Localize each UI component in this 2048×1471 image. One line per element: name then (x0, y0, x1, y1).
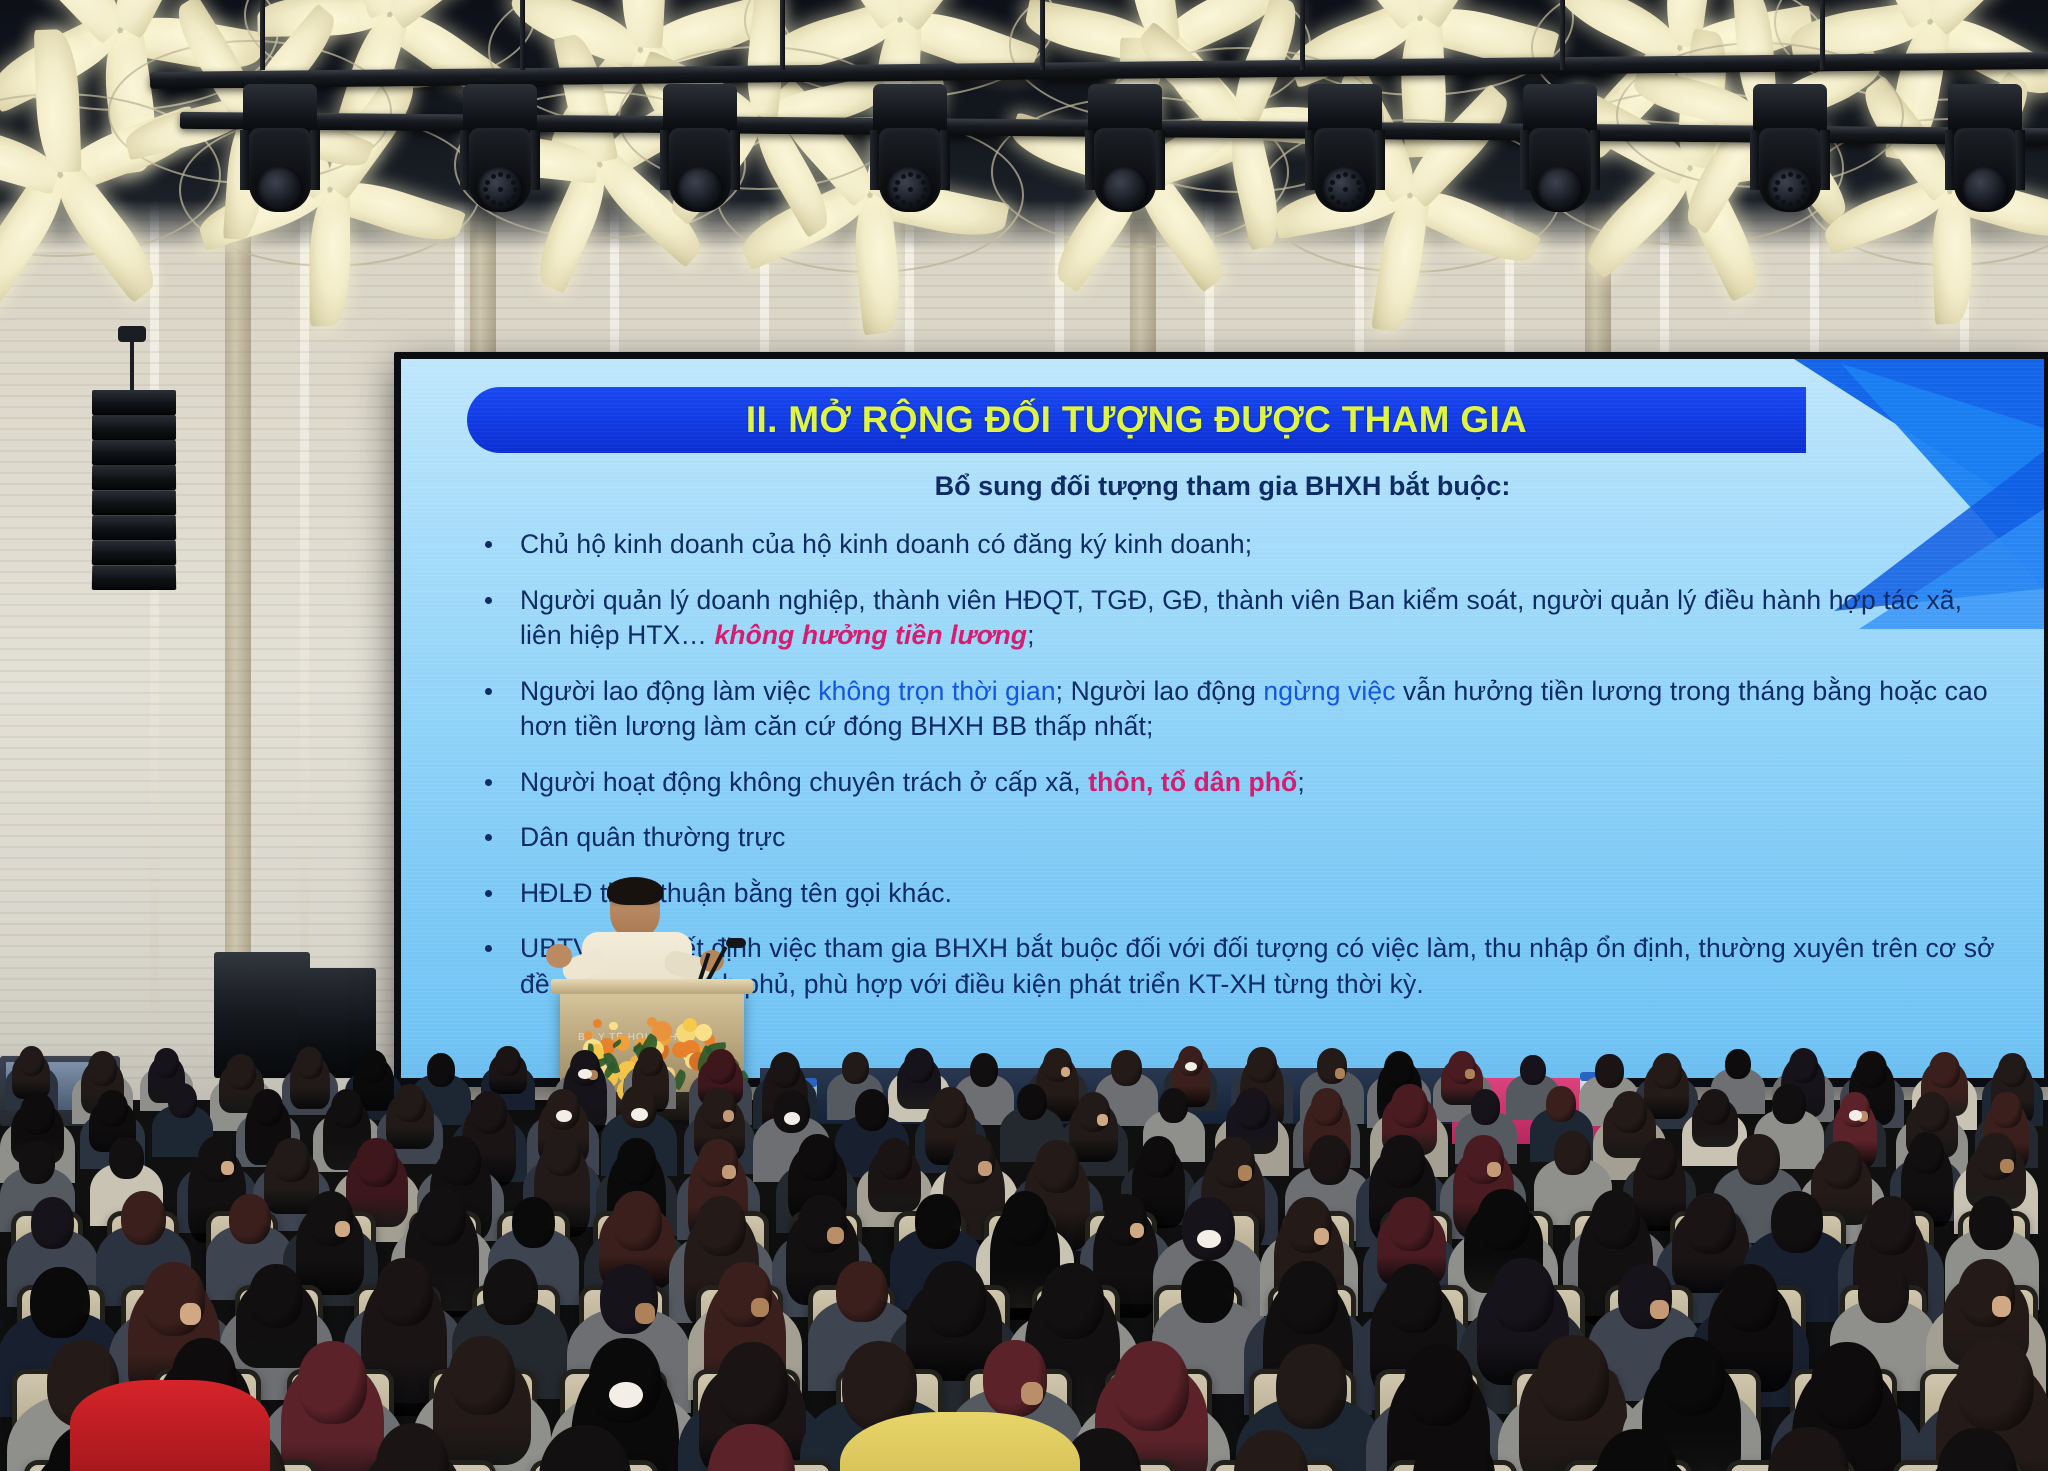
audience-head (1492, 1258, 1553, 1331)
audience-head (1041, 1263, 1105, 1339)
moving-head-led (1336, 174, 1341, 179)
audience-head (915, 1194, 961, 1249)
audience-head (589, 1338, 661, 1424)
moving-head-arm-right (1820, 130, 1830, 190)
moving-head-led (1356, 195, 1361, 200)
blind-slat (0, 318, 2048, 320)
moving-head-arm-right (2015, 130, 2025, 190)
audience-head (877, 1138, 912, 1180)
audience-head (1017, 1084, 1048, 1121)
truss-drop-rod (520, 0, 525, 70)
audience-head (1043, 1048, 1072, 1083)
audience-head (702, 1088, 736, 1128)
audience-head (1477, 1189, 1529, 1252)
slide-bullet-text: Người hoạt động không chuyên trách ở cấp… (520, 765, 1996, 801)
audience-head (953, 1134, 995, 1184)
audience-head (1612, 1091, 1647, 1133)
audience-neck (722, 1165, 735, 1179)
audience-head (1725, 1049, 1751, 1080)
bullet-dot-icon (485, 890, 492, 897)
audience-head (273, 1138, 310, 1182)
audience-head (1391, 1084, 1428, 1128)
blind-slat (0, 329, 2048, 331)
bullet-segment: ; Người lao động (1056, 676, 1264, 706)
audience-head (638, 1047, 663, 1077)
audience-neck (1021, 1382, 1043, 1405)
audience-head (1471, 1089, 1500, 1124)
audience-neck (1238, 1165, 1253, 1180)
moving-head-led (1775, 195, 1780, 200)
audience-head (1958, 1259, 2015, 1327)
audience-head (983, 1340, 1047, 1417)
moving-head-led (916, 200, 921, 205)
moving-head-arm-right (530, 130, 540, 190)
audience-head (1448, 1051, 1476, 1085)
moving-head-led (895, 195, 900, 200)
moving-head-led (1788, 202, 1793, 207)
audience-head (621, 1085, 657, 1128)
audience-head (331, 1089, 363, 1128)
bullet-segment: Người hoạt động không chuyên trách ở cấp… (520, 767, 1088, 797)
moving-head-led (1358, 187, 1363, 192)
audience-head (1317, 1048, 1347, 1084)
audience-head (1618, 1264, 1672, 1329)
audience-head (617, 1138, 656, 1184)
moving-head-led (511, 195, 516, 200)
line-array-module (92, 540, 176, 565)
moving-head-led (893, 187, 898, 192)
audience-head (1111, 1050, 1141, 1086)
audience-neck (1992, 1296, 2011, 1316)
audience-head (770, 1052, 801, 1089)
audience-neck (1487, 1162, 1501, 1177)
audience-head (798, 1195, 846, 1253)
bullet-segment: ; (1297, 767, 1304, 797)
line-array-module (92, 515, 176, 540)
audience-seating (0, 1040, 2048, 1471)
audience-head (1276, 1344, 1348, 1430)
audience-head (600, 1264, 659, 1334)
audience-head (1104, 1194, 1147, 1246)
audience-neck (1097, 1114, 1108, 1126)
slide-subtitle: Bổ sung đối tượng tham gia BHXH bắt buộc… (401, 471, 2044, 502)
audience-head (1976, 1133, 2016, 1181)
moving-head-led (1773, 187, 1778, 192)
audience-head (718, 1262, 772, 1327)
audience-red-jacket (70, 1380, 270, 1471)
audience-head (1991, 1092, 2021, 1128)
line-array-module (92, 490, 176, 515)
audience-head (1463, 1135, 1504, 1184)
moving-head-arm-right (730, 130, 740, 190)
audience-neck (221, 1161, 234, 1175)
moving-head-lens (1102, 166, 1148, 212)
moving-head-led (1351, 174, 1356, 179)
audience-head (19, 1046, 44, 1076)
audience-neck (1314, 1228, 1330, 1245)
hair-accessory (609, 1382, 642, 1408)
audience-head (298, 1341, 367, 1423)
hair-accessory (1185, 1062, 1197, 1071)
slide-bullet: Dân quân thường trực (463, 820, 1996, 856)
audience-head (1969, 1196, 2014, 1250)
hair-accessory (631, 1108, 648, 1121)
audience-head (922, 1261, 986, 1337)
audience-neck (1335, 1068, 1345, 1079)
moving-head-led (1801, 180, 1806, 185)
audience-head (19, 1141, 55, 1184)
moving-head-led (1330, 180, 1335, 185)
moving-head-arm-right (310, 130, 320, 190)
audience-head (1380, 1135, 1424, 1188)
audience-head (1699, 1089, 1730, 1126)
audience-head (1856, 1051, 1887, 1087)
slide-bullet-text: Dân quân thường trực (520, 820, 1996, 856)
audience-head (1659, 1337, 1725, 1416)
audience-head (904, 1048, 933, 1083)
audience-neck (827, 1227, 843, 1244)
audience-head (483, 1259, 538, 1325)
moving-head-led (901, 200, 906, 205)
bullet-dot-icon (485, 945, 492, 952)
audience-neck (635, 1303, 655, 1324)
moving-head-lens (1537, 166, 1583, 212)
audience-head (249, 1264, 303, 1328)
moving-head-led (498, 187, 503, 192)
slide-title-bar: II. MỞ RỘNG ĐỐI TƯỢNG ĐƯỢC THAM GIA (467, 387, 1806, 453)
audience-neck (180, 1303, 201, 1325)
speaker-hanger (130, 338, 134, 392)
moving-head-led (1328, 187, 1333, 192)
audience-head (1789, 1048, 1818, 1083)
truss-drop-rod (780, 0, 785, 70)
slide-title: II. MỞ RỘNG ĐỐI TƯỢNG ĐƯỢC THAM GIA (746, 399, 1527, 441)
audience-head (1404, 1344, 1473, 1426)
audience-head (1235, 1088, 1270, 1130)
audience-head (1384, 1051, 1414, 1087)
blind-slat (0, 340, 2048, 342)
moving-head-led (506, 174, 511, 179)
audience-head (1002, 1191, 1048, 1246)
audience-head (471, 1091, 507, 1134)
audience-head (1247, 1047, 1277, 1083)
audience-head (31, 1197, 74, 1249)
audience-neck (723, 1110, 735, 1122)
audience-head (1811, 1342, 1884, 1429)
moving-head-led (1336, 200, 1341, 205)
audience-head (1595, 1054, 1623, 1088)
audience-head (1909, 1132, 1944, 1174)
moving-head-led (1343, 202, 1348, 207)
audience-head (1858, 1262, 1909, 1323)
audience-head (933, 1087, 967, 1127)
slide-bullet-text: Người quản lý doanh nghiệp, thành viên H… (520, 583, 1996, 654)
truss-drop-rod (260, 0, 265, 70)
line-array-speaker (92, 390, 176, 595)
moving-head-led (1781, 174, 1786, 179)
slide-bullet: Người hoạt động không chuyên trách ở cấp… (463, 765, 1996, 801)
line-array-module (92, 390, 176, 415)
audience-head (252, 1089, 283, 1126)
moving-head-led (1343, 172, 1348, 177)
moving-head-led (491, 200, 496, 205)
bullet-dot-icon (485, 834, 492, 841)
moving-head-led (1343, 187, 1348, 192)
audience-head (1684, 1193, 1735, 1254)
moving-head-arm-right (1375, 130, 1385, 190)
audience-head (1159, 1088, 1189, 1123)
moving-head-arm-right (1590, 130, 1600, 190)
moving-head-led (491, 174, 496, 179)
bullet-segment: Người lao động làm việc (520, 676, 818, 706)
bullet-segment: Chủ hộ kinh doanh của hộ kinh doanh có đ… (520, 529, 1252, 559)
audience-neck (1061, 1067, 1071, 1077)
truss-drop-rod (1820, 0, 1825, 70)
moving-head-led (498, 172, 503, 177)
moving-head-lens (677, 166, 723, 212)
audience-head (717, 1342, 788, 1427)
audience-head (1722, 1264, 1779, 1332)
moving-head-led (1788, 187, 1793, 192)
audience-neck (1650, 1300, 1668, 1319)
truss-drop-rod (1300, 0, 1305, 70)
bullet-segment: ; (1027, 620, 1034, 650)
audience-head (1537, 1335, 1609, 1421)
audience-head (198, 1136, 236, 1182)
ceiling-light-petal (310, 192, 350, 326)
audience-head (1212, 1137, 1255, 1188)
audience-head (495, 1046, 521, 1077)
audience-head (30, 1267, 90, 1338)
moving-head-led (1803, 187, 1808, 192)
blind-slat (0, 307, 2048, 309)
moving-head-led (901, 174, 906, 179)
audience-head (1915, 1092, 1949, 1133)
audience-head (121, 1191, 166, 1245)
audience-head (696, 1196, 746, 1256)
audience-head (1591, 1190, 1641, 1249)
audience-head (706, 1049, 736, 1085)
audience-head (1956, 1338, 2034, 1432)
audience-head (1821, 1141, 1862, 1190)
moving-head-arm-right (940, 130, 950, 190)
slide-bullet-text: HĐLĐ thỏa thuận bằng tên gọi khác. (520, 876, 1996, 912)
truss-drop-rod (1040, 0, 1045, 70)
audience-head (376, 1258, 433, 1326)
audience-head (356, 1138, 397, 1187)
audience-head (855, 1089, 890, 1131)
hair-accessory (578, 1069, 592, 1080)
audience-head (1114, 1341, 1189, 1431)
bullet-dot-icon (485, 597, 492, 604)
audience-head (1385, 1264, 1443, 1333)
audience-neck (978, 1161, 992, 1176)
audience-head (1278, 1261, 1339, 1333)
flower-bloom (609, 1022, 617, 1030)
line-array-module (92, 465, 176, 490)
audience-head (612, 1191, 662, 1251)
audience-head (1181, 1260, 1234, 1323)
moving-head-led (506, 200, 511, 205)
audience-head (1929, 1052, 1960, 1089)
moving-head-led (908, 202, 913, 207)
truss-drop-rod (1560, 0, 1565, 70)
audience-head (226, 1054, 256, 1090)
audience-head (543, 1132, 580, 1177)
audience-head (1546, 1086, 1576, 1122)
audience-head (1772, 1084, 1805, 1124)
audience-head (1520, 1055, 1546, 1086)
audience-head (1771, 1191, 1823, 1253)
moving-head-led (513, 187, 518, 192)
audience-head (143, 1262, 205, 1336)
moving-head-led (921, 195, 926, 200)
audience-head (1866, 1196, 1916, 1256)
audience-neck (751, 1298, 769, 1317)
audience-head (440, 1136, 481, 1186)
moving-head-led (1796, 200, 1801, 205)
audience-head (970, 1053, 999, 1087)
audience-head (1035, 1140, 1079, 1192)
line-array-module (92, 440, 176, 465)
audience-head (1309, 1135, 1351, 1185)
audience-head (1642, 1138, 1677, 1180)
audience-head (109, 1137, 144, 1179)
audience-head (842, 1052, 869, 1084)
moving-head-led (1781, 200, 1786, 205)
audience-head (1652, 1053, 1682, 1089)
audience-head (394, 1084, 426, 1122)
moving-head-led (1796, 174, 1801, 179)
moving-head-led (921, 180, 926, 185)
bullet-segment: thôn, tổ dân phố (1088, 767, 1297, 797)
audience-head (836, 1261, 887, 1322)
ceiling-area (0, 0, 2048, 250)
audience-head (1077, 1092, 1110, 1131)
audience-head (1311, 1088, 1343, 1126)
bullet-segment: Dân quân thường trực (520, 822, 786, 852)
presenter-hair (607, 877, 663, 905)
moving-head-led (1801, 195, 1806, 200)
moving-head-led (1330, 195, 1335, 200)
audience-head (1737, 1134, 1780, 1185)
moving-head-led (485, 180, 490, 185)
line-array-module (92, 565, 176, 590)
audience-head (1285, 1197, 1332, 1253)
audience-head (427, 1053, 455, 1087)
moving-head-led (1775, 180, 1780, 185)
audience-head (449, 1336, 515, 1415)
audience-neck (1465, 1069, 1475, 1079)
audience-head (698, 1139, 738, 1186)
bullet-dot-icon (485, 541, 492, 548)
audience-head (97, 1090, 128, 1127)
bullet-dot-icon (485, 688, 492, 695)
audience-head (1388, 1197, 1434, 1252)
slide-bullet: Chủ hộ kinh doanh của hộ kinh doanh có đ… (463, 527, 1996, 563)
audience-head (1141, 1136, 1176, 1178)
audience-head (1554, 1131, 1591, 1175)
podium-top (551, 979, 753, 994)
bullet-segment: không hưởng tiền lương (714, 620, 1027, 650)
moving-head-led (908, 187, 913, 192)
moving-head-led (895, 180, 900, 185)
flower-bloom (593, 1019, 602, 1028)
moving-head-lens (257, 166, 303, 212)
audience-head (798, 1134, 837, 1181)
audience-head (308, 1191, 353, 1245)
line-array-module (92, 415, 176, 440)
audience-neck (2000, 1159, 2014, 1173)
audience-head (154, 1048, 179, 1078)
slide-bullet: Người quản lý doanh nghiệp, thành viên H… (463, 583, 1996, 654)
audience-head (360, 1050, 387, 1083)
moving-head-led (923, 187, 928, 192)
audience-neck (335, 1221, 350, 1237)
bullet-dot-icon (485, 779, 492, 786)
moving-head-led (916, 174, 921, 179)
moving-head-led (498, 202, 503, 207)
bullet-segment: không trọn thời gian (818, 676, 1055, 706)
moving-head-led (1351, 200, 1356, 205)
conference-hall-photo: II. MỞ RỘNG ĐỐI TƯỢNG ĐƯỢC THAM GIA Bổ s… (0, 0, 2048, 1471)
moving-head-led (908, 172, 913, 177)
moving-head-lens (1962, 166, 2008, 212)
audience-neck (1130, 1223, 1145, 1239)
audience-head (296, 1047, 323, 1079)
moving-head-arm-right (1155, 130, 1165, 190)
presenter-left-hand (546, 944, 572, 968)
audience-head (88, 1051, 117, 1086)
microphone-head (726, 938, 746, 948)
audience-head (418, 1188, 467, 1246)
audience-head (512, 1197, 555, 1248)
audience-head (168, 1083, 197, 1118)
moving-head-led (511, 180, 516, 185)
audience-head (229, 1194, 271, 1244)
hair-accessory (556, 1110, 572, 1122)
slide-bullet-text: Người lao động làm việc không trọn thời … (520, 674, 1996, 745)
slide-bullet: Người lao động làm việc không trọn thời … (463, 674, 1996, 745)
moving-head-led (1788, 172, 1793, 177)
slide-bullet-text: Chủ hộ kinh doanh của hộ kinh doanh có đ… (520, 527, 1996, 563)
audience-head (1998, 1053, 2027, 1088)
moving-head-led (1356, 180, 1361, 185)
moving-head-led (485, 195, 490, 200)
hair-accessory (1849, 1110, 1863, 1121)
moving-head-led (483, 187, 488, 192)
bullet-segment: ngừng việc (1263, 676, 1395, 706)
audience-head (1182, 1197, 1235, 1260)
audience-head (20, 1092, 56, 1135)
